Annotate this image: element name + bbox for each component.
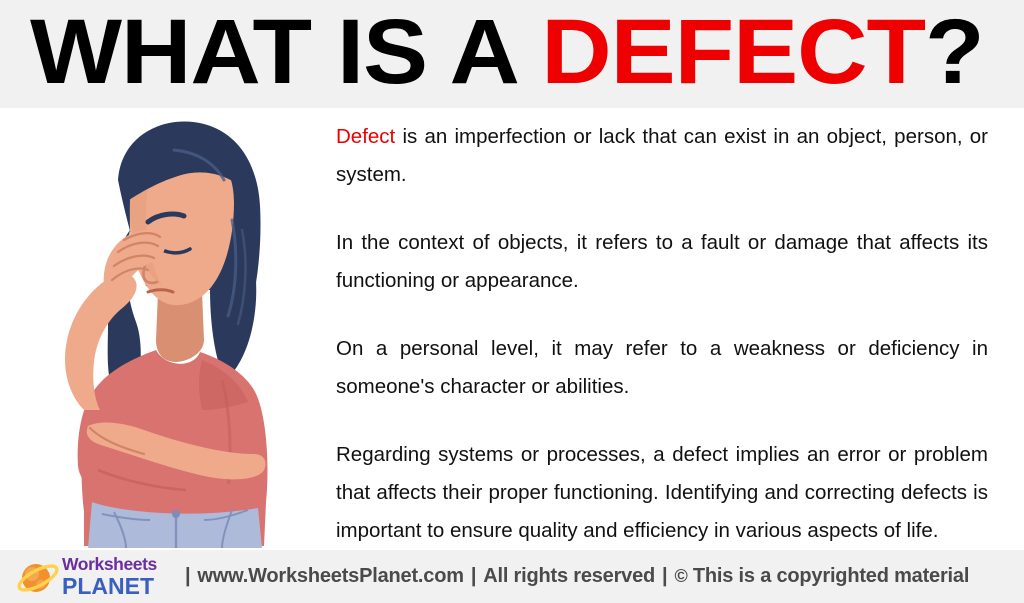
logo-line-planet: PLANET — [62, 575, 157, 598]
footer-pipe-3: | — [662, 565, 667, 588]
footer-pipe-2: | — [471, 565, 476, 588]
footer-website[interactable]: www.WorksheetsPlanet.com — [197, 565, 463, 588]
logo-line-worksheets: Worksheets — [62, 556, 157, 574]
footer-copyright-text: This is a copyrighted material — [693, 565, 969, 588]
copyright-icon: © — [674, 566, 687, 587]
page-header: WHAT IS A DEFECT? — [0, 0, 1024, 108]
page-footer: Worksheets PLANET | www.WorksheetsPlanet… — [0, 550, 1024, 603]
worried-woman-illustration — [26, 110, 326, 548]
paragraph-3: On a personal level, it may refer to a w… — [336, 330, 988, 406]
footer-pipe-1: | — [185, 565, 190, 588]
keyword-defect: Defect — [336, 125, 395, 148]
page-title-part-question-mark: ? — [925, 1, 984, 103]
definition-text-block: Defect is an imperfection or lack that c… — [336, 118, 988, 550]
paragraph-2: In the context of objects, it refers to … — [336, 224, 988, 300]
worksheets-planet-logo[interactable]: Worksheets PLANET — [16, 555, 168, 599]
paragraph-4: Regarding systems or processes, a defect… — [336, 436, 988, 550]
page-title-part-black-1: WHAT IS A — [30, 1, 541, 103]
main-content: Defect is an imperfection or lack that c… — [0, 108, 1024, 550]
paragraph-1-text: is an imperfection or lack that can exis… — [336, 125, 988, 186]
logo-wordmark: Worksheets PLANET — [62, 556, 157, 598]
footer-credit-text: | www.WorksheetsPlanet.com | All rights … — [178, 550, 969, 603]
footer-rights: All rights reserved — [483, 565, 655, 588]
page-title-part-red: DEFECT — [541, 1, 925, 103]
page-title: WHAT IS A DEFECT? — [30, 4, 983, 100]
planet-icon — [16, 555, 60, 599]
paragraph-1: Defect is an imperfection or lack that c… — [336, 118, 988, 194]
